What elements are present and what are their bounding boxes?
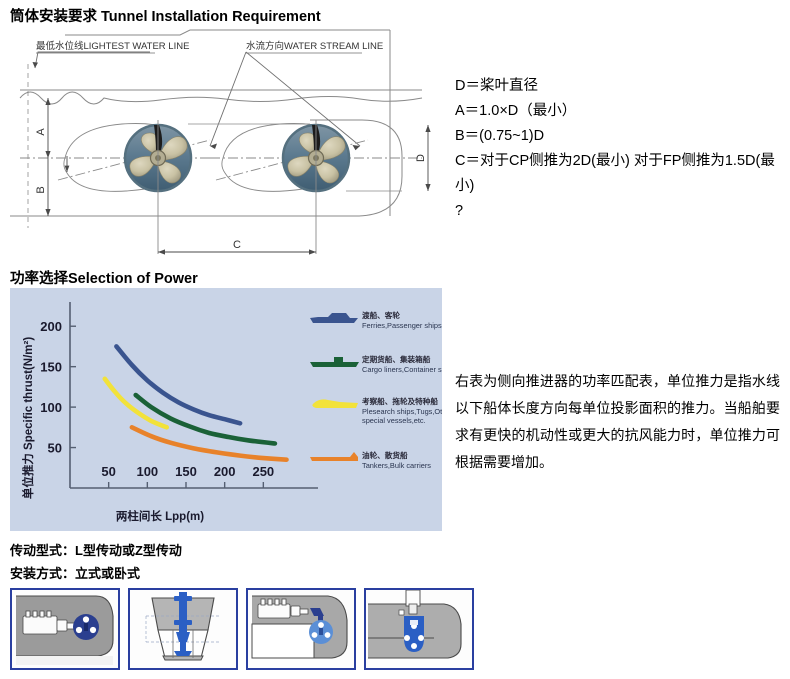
dimension-label-a: A [35,128,47,136]
legend-label-cn: 考察船、拖轮及特种船 [362,396,438,406]
dimension-label-b: B [35,186,47,193]
formula-line-b: B＝(0.75~1)D [455,124,780,149]
thumbnail-vertical-shaft-section[interactable] [128,588,238,670]
chart-y-axis-title: 单位推力 Specific thrust(N/m²) [21,337,35,499]
page-title-tunnel-installation: 筒体安装要求 Tunnel Installation Requirement [10,5,321,26]
page-title-selection-of-power: 功率选择Selection of Power [10,267,198,288]
tunnel-installation-drawing: 最低水位线LIGHTEST WATER LINE 水流方向WATER STREA… [10,28,442,260]
chart-y-tick-label: 100 [40,400,62,415]
legend-label-cn: 定期货船、集装箱船 [362,354,431,364]
formula-list: D＝桨叶直径 A＝1.0×D（最小） B＝(0.75~1)D C＝对于CP侧推为… [455,74,780,224]
lightest-water-line-label: 最低水位线LIGHTEST WATER LINE [36,40,189,52]
formula-line-a: A＝1.0×D（最小） [455,99,780,124]
legend-label-en: Ferries,Passenger ships [362,321,442,330]
thumbnail-horizontal-engine-room[interactable] [246,588,356,670]
power-description-paragraph: 右表为侧向推进器的功率匹配表，单位推力是指水线以下船体长度方向每单位投影面积的推… [455,368,780,476]
chart-x-tick-label: 50 [101,464,115,479]
thumbnail-vertical-tunnel-hull[interactable] [364,588,474,670]
formula-line-c: C＝对于CP侧推为2D(最小) 对于FP侧推为1.5D(最小) [455,149,780,199]
dimension-label-c: C [233,239,241,251]
chart-x-axis-title: 两柱间长 Lpp(m) [116,509,204,523]
chart-x-tick-label: 250 [252,464,274,479]
legend-label-en: special vessels,etc. [362,416,426,425]
legend-label-en: Cargo liners,Container ships [362,365,442,374]
dimension-label-d: D [415,154,427,162]
installation-thumbnail-row [10,588,482,672]
thumbnail-horizontal-engine-thruster[interactable] [10,588,120,670]
chart-x-tick-label: 100 [136,464,158,479]
specific-thrust-chart: 5010015020050100150200250 渡船、客轮Ferries,P… [10,288,442,531]
chart-y-tick-label: 50 [48,441,62,456]
water-stream-line-label: 水流方向WATER STREAM LINE [246,40,383,52]
mount-type-line: 安装方式：立式或卧式 [10,563,140,582]
legend-label-en: Plesearch ships,Tugs,Other [362,407,442,416]
chart-y-tick-label: 200 [40,319,62,334]
legend-label-en: Tankers,Bulk carriers [362,461,431,470]
drive-type-line: 传动型式：L型传动或Z型传动 [10,540,182,559]
chart-x-tick-label: 150 [175,464,197,479]
document-page: 筒体安装要求 Tunnel Installation Requirement [0,0,790,679]
legend-label-cn: 油轮、散货船 [362,450,408,460]
formula-line-question: ? [455,199,780,224]
chart-y-tick-label: 150 [40,360,62,375]
chart-x-tick-label: 200 [214,464,236,479]
legend-label-cn: 渡船、客轮 [362,310,400,320]
formula-line-d: D＝桨叶直径 [455,74,780,99]
